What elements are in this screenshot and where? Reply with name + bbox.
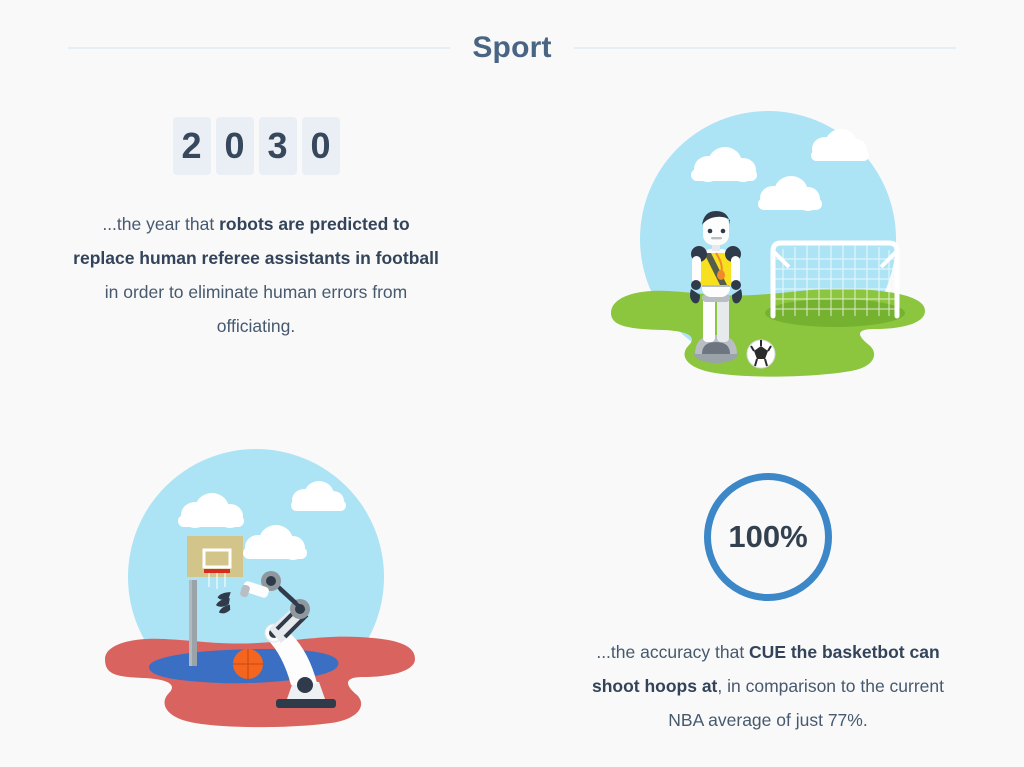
accuracy-caption-pre: ...the accuracy that [596, 642, 749, 662]
year-digit: 0 [302, 117, 340, 175]
page-header: Sport [0, 0, 1024, 95]
soccer-ball-icon [747, 340, 775, 368]
basketball-illustration [91, 437, 421, 742]
content-grid: 2 0 3 0 ...the year that robots are pred… [0, 95, 1024, 767]
year-caption-pre: ...the year that [102, 214, 219, 234]
basketball-scene-svg [91, 437, 421, 737]
year-digit: 3 [259, 117, 297, 175]
header-rule-right [574, 47, 956, 49]
cell-accuracy-stat: 100% ...the accuracy that CUE the basket… [512, 431, 1024, 767]
football-illustration [603, 101, 933, 406]
accuracy-ring-wrap: 100% [512, 473, 1024, 601]
cell-basketball-illustration [0, 431, 512, 767]
cell-football-illustration [512, 95, 1024, 431]
backboard-icon [187, 536, 243, 577]
accuracy-ring: 100% [704, 473, 832, 601]
year-digit: 0 [216, 117, 254, 175]
year-caption-post: in order to eliminate human errors from … [105, 282, 407, 336]
year-digit: 2 [173, 117, 211, 175]
accuracy-value: 100% [728, 519, 807, 555]
accuracy-caption: ...the accuracy that CUE the basketbot c… [582, 635, 954, 737]
year-digit-group: 2 0 3 0 [0, 117, 512, 175]
hoop-pole-highlight-icon [189, 580, 192, 666]
goal-shadow-icon [765, 299, 905, 327]
year-stat-block: 2 0 3 0 ...the year that robots are pred… [0, 117, 512, 343]
header-rule-left [68, 47, 450, 49]
accuracy-stat-block: 100% ...the accuracy that CUE the basket… [512, 473, 1024, 737]
year-caption: ...the year that robots are predicted to… [70, 207, 442, 343]
football-scene-svg [603, 101, 933, 401]
cell-year-stat: 2 0 3 0 ...the year that robots are pred… [0, 95, 512, 431]
page-title: Sport [450, 31, 573, 65]
basketball-icon [233, 649, 263, 679]
